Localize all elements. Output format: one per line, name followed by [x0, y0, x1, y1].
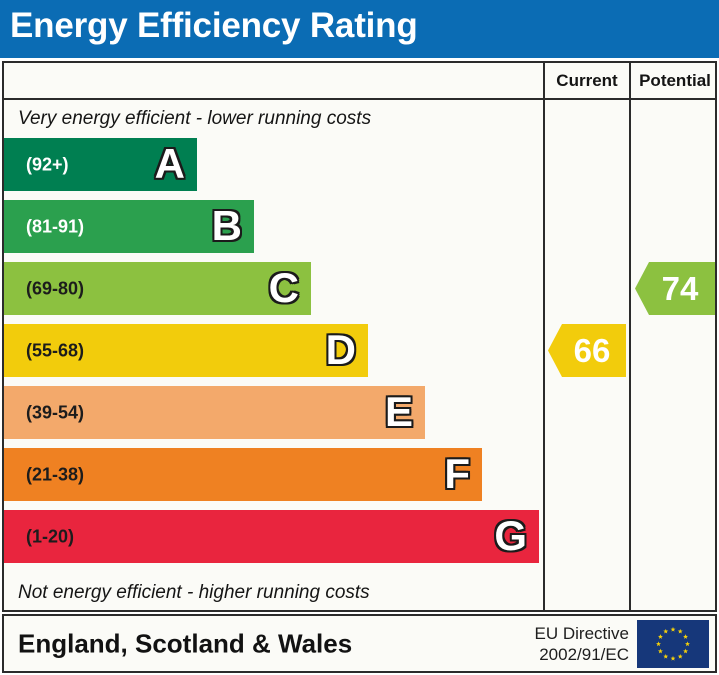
footer-bar: England, Scotland & Wales EU Directive 2…: [2, 614, 717, 673]
directive-line-1: EU Directive: [535, 622, 629, 643]
band-range-a: (92+): [26, 154, 69, 175]
band-range-c: (69-80): [26, 278, 84, 299]
band-letter-g: G: [494, 515, 527, 557]
band-bar-g: (1-20) G: [4, 510, 539, 563]
column-header-current: Current: [545, 71, 629, 91]
band-letter-c: C: [269, 267, 299, 309]
column-header-potential: Potential: [631, 71, 719, 91]
band-range-e: (39-54): [26, 402, 84, 423]
caption-very-efficient: Very energy efficient - lower running co…: [4, 100, 543, 138]
band-bar-d: (55-68) D: [4, 324, 368, 377]
band-letter-e: E: [385, 391, 413, 433]
band-letter-b: B: [212, 205, 242, 247]
column-divider-current: [543, 63, 545, 610]
band-range-d: (55-68): [26, 340, 84, 361]
band-bars: (92+) A (81-91) B (69-80) C (55-68) D (3…: [4, 138, 543, 575]
band-range-f: (21-38): [26, 464, 84, 485]
directive-line-2: 2002/91/EC: [535, 644, 629, 665]
band-range-b: (81-91): [26, 216, 84, 237]
title-bar: Energy Efficiency Rating: [0, 0, 719, 58]
band-letter-d: D: [326, 329, 356, 371]
current-rating-arrow: 66: [548, 324, 626, 377]
band-letter-f: F: [444, 453, 470, 495]
footer-directive: EU Directive 2002/91/EC: [535, 622, 629, 665]
band-bar-f: (21-38) F: [4, 448, 482, 501]
band-bar-a: (92+) A: [4, 138, 197, 191]
band-bar-e: (39-54) E: [4, 386, 425, 439]
band-bar-c: (69-80) C: [4, 262, 311, 315]
energy-efficiency-certificate: Energy Efficiency Rating Current Potenti…: [0, 0, 719, 675]
column-divider-potential: [629, 63, 631, 610]
rating-table: Current Potential Very energy efficient …: [2, 61, 717, 612]
band-range-g: (1-20): [26, 526, 74, 547]
caption-not-efficient: Not energy efficient - higher running co…: [4, 575, 543, 610]
band-bar-b: (81-91) B: [4, 200, 254, 253]
potential-rating-arrow: 74: [635, 262, 715, 315]
page-title: Energy Efficiency Rating: [10, 6, 418, 46]
band-letter-a: A: [155, 143, 185, 185]
eu-flag-icon: [637, 620, 709, 668]
footer-region-label: England, Scotland & Wales: [18, 628, 352, 659]
